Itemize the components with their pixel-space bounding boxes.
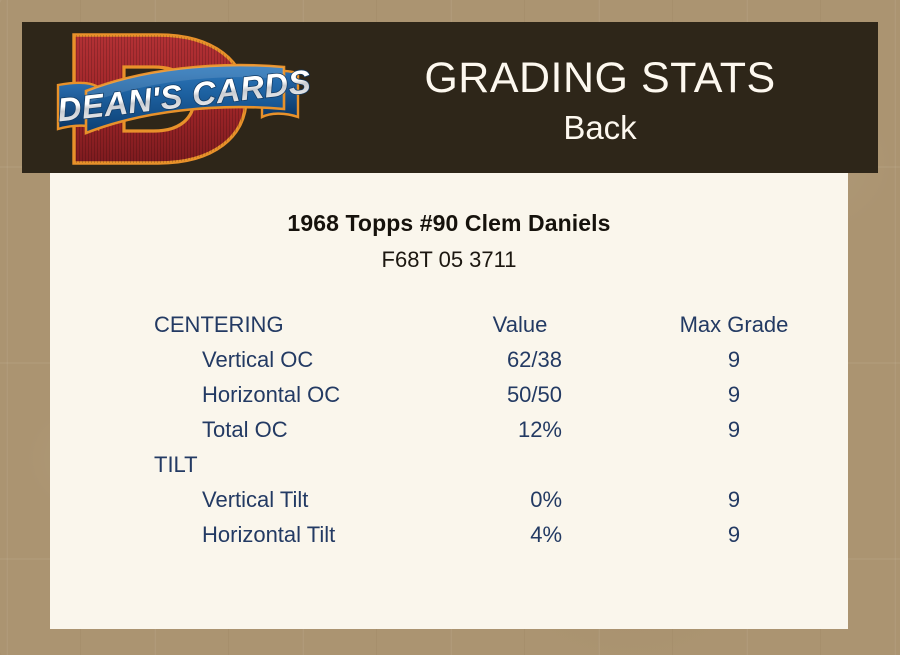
stat-value: 4% xyxy=(420,517,620,552)
stat-max-grade: 9 xyxy=(620,412,848,447)
stat-label: Vertical OC xyxy=(50,342,420,377)
table-row: Total OC12%9 xyxy=(50,412,848,447)
stat-max-grade: 9 xyxy=(620,377,848,412)
table-row: Vertical Tilt0%9 xyxy=(50,482,848,517)
table-row: Horizontal OC50/509 xyxy=(50,377,848,412)
column-header-value: Value xyxy=(420,307,620,342)
column-header-max-grade: Max Grade xyxy=(620,307,848,342)
stat-label: Horizontal OC xyxy=(50,377,420,412)
stat-value: 50/50 xyxy=(420,377,620,412)
deans-cards-logo[interactable]: DEAN'S CARDS xyxy=(46,25,310,173)
page-subtitle: Back xyxy=(322,106,878,150)
stat-max-grade: 9 xyxy=(620,517,848,552)
card-heading: 1968 Topps #90 Clem Daniels xyxy=(50,210,848,237)
stat-value: 0% xyxy=(420,482,620,517)
stat-value: 62/38 xyxy=(420,342,620,377)
table-row: Horizontal Tilt4%9 xyxy=(50,517,848,552)
content-panel: 1968 Topps #90 Clem Daniels F68T 05 3711… xyxy=(50,173,848,629)
column-header-centering: CENTERING xyxy=(50,307,420,342)
section-label: TILT xyxy=(50,447,848,482)
stat-label: Vertical Tilt xyxy=(50,482,420,517)
table-header-row: CENTERING Value Max Grade xyxy=(50,307,848,342)
header-bar: DEAN'S CARDS GRADING STATS Back xyxy=(22,22,878,173)
card-code: F68T 05 3711 xyxy=(50,247,848,273)
header-titles: GRADING STATS Back xyxy=(322,52,878,150)
table-body: Vertical OC62/389Horizontal OC50/509Tota… xyxy=(50,342,848,552)
stat-label: Total OC xyxy=(50,412,420,447)
stat-label: Horizontal Tilt xyxy=(50,517,420,552)
table-row: Vertical OC62/389 xyxy=(50,342,848,377)
stat-max-grade: 9 xyxy=(620,482,848,517)
stat-max-grade: 9 xyxy=(620,342,848,377)
grading-stats-table: CENTERING Value Max Grade Vertical OC62/… xyxy=(50,307,848,552)
stat-value: 12% xyxy=(420,412,620,447)
page-title: GRADING STATS xyxy=(322,52,878,104)
section-label-row: TILT xyxy=(50,447,848,482)
